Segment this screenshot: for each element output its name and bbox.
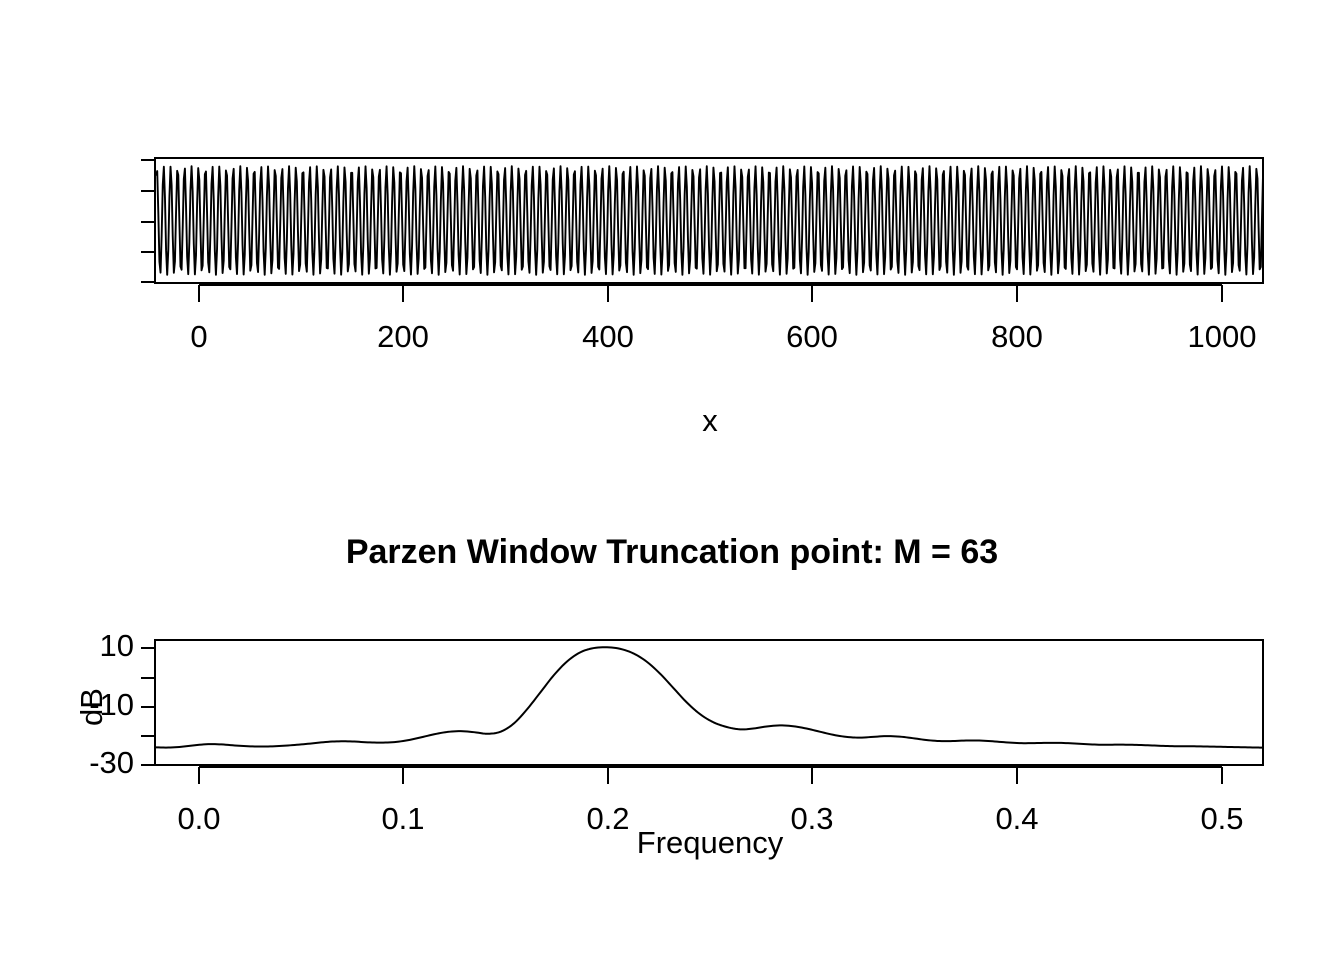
timeseries-panel: 0.5 -1.0 sin(x) 0 200 400 600 800 1000 bbox=[0, 0, 1344, 470]
timeseries-xtick-label-400: 400 bbox=[582, 319, 634, 354]
spectrum-ytick-label-minus30: -30 bbox=[89, 745, 134, 780]
spectrum-plot-box bbox=[155, 640, 1263, 765]
spectrum-xtick-label-0p0: 0.0 bbox=[177, 801, 220, 836]
timeseries-top-mask bbox=[0, 0, 1344, 157]
timeseries-data-line bbox=[156, 166, 1263, 275]
figure-canvas: 0.5 -1.0 sin(x) 0 200 400 600 800 1000 bbox=[0, 0, 1344, 960]
timeseries-xtick-label-1000: 1000 bbox=[1188, 319, 1257, 354]
timeseries-x-axis-title: x bbox=[702, 403, 718, 438]
spectrum-xtick-label-0p3: 0.3 bbox=[790, 801, 833, 836]
spectrum-x-ticks bbox=[199, 767, 1222, 784]
spectrum-xtick-label-0p5: 0.5 bbox=[1200, 801, 1243, 836]
spectrum-data-line bbox=[155, 647, 1263, 747]
timeseries-bottom-mask bbox=[0, 284, 1344, 324]
spectrum-xtick-label-0p1: 0.1 bbox=[381, 801, 424, 836]
spectrum-y-ticks bbox=[141, 648, 155, 765]
spectrum-xtick-label-0p2: 0.2 bbox=[586, 801, 629, 836]
spectrum-svg: 10 -10 -30 dB 0.0 0.1 0.2 0.3 0.4 0.5 bbox=[0, 600, 1344, 900]
main-title: Parzen Window Truncation point: M = 63 bbox=[0, 533, 1344, 572]
timeseries-svg: 0.5 -1.0 sin(x) 0 200 400 600 800 1000 bbox=[0, 0, 1344, 470]
timeseries-right-mask bbox=[1264, 0, 1344, 470]
timeseries-left-mask bbox=[0, 0, 154, 470]
spectrum-ytick-label-10: 10 bbox=[100, 628, 134, 663]
timeseries-xtick-label-600: 600 bbox=[786, 319, 838, 354]
spectrum-panel: 10 -10 -30 dB 0.0 0.1 0.2 0.3 0.4 0.5 bbox=[0, 600, 1344, 900]
spectrum-x-axis-title: Frequency bbox=[637, 825, 784, 860]
timeseries-xtick-label-800: 800 bbox=[991, 319, 1043, 354]
timeseries-xtick-label-0: 0 bbox=[190, 319, 207, 354]
spectrum-xtick-label-0p4: 0.4 bbox=[995, 801, 1038, 836]
spectrum-y-axis-title: dB bbox=[74, 688, 109, 726]
timeseries-xtick-label-200: 200 bbox=[377, 319, 429, 354]
